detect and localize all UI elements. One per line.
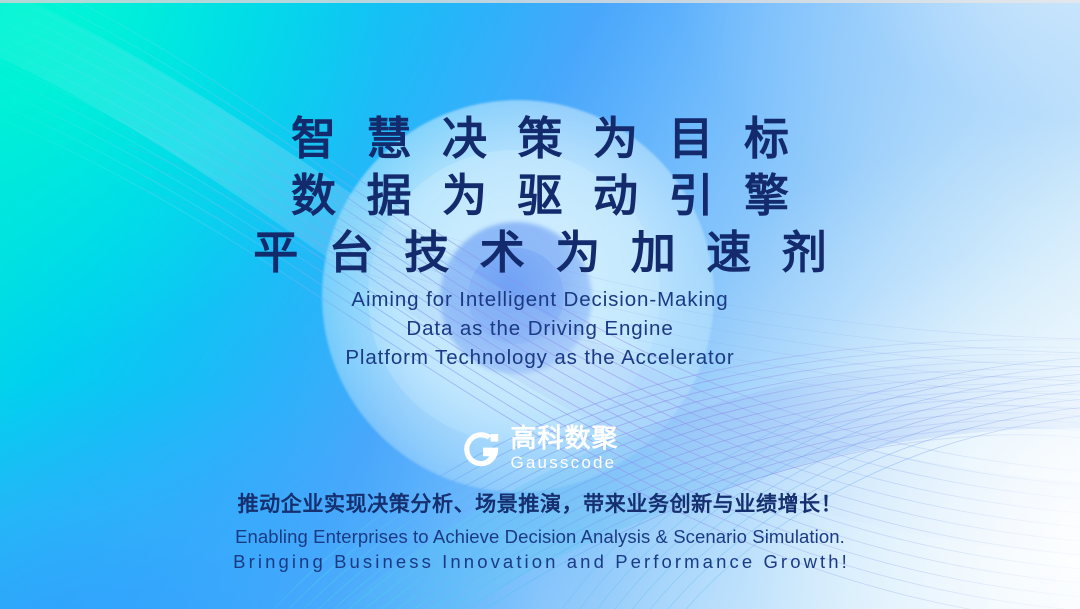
subheadline-line-2: Data as the Driving Engine	[345, 314, 734, 343]
poster-content: 智 慧 决 策 为 目 标 数 据 为 驱 动 引 擎 平 台 技 术 为 加 …	[0, 0, 1080, 609]
brand-name-en: Gausscode	[510, 453, 618, 473]
headline-line-1: 智 慧 决 策 为 目 标	[244, 110, 836, 167]
tagline-en-line-1: Enabling Enterprises to Achieve Decision…	[230, 525, 850, 549]
headline-line-2: 数 据 为 驱 动 引 擎	[244, 167, 836, 224]
headline: 智 慧 决 策 为 目 标 数 据 为 驱 动 引 擎 平 台 技 术 为 加 …	[244, 110, 836, 281]
poster-canvas: 智 慧 决 策 为 目 标 数 据 为 驱 动 引 擎 平 台 技 术 为 加 …	[0, 0, 1080, 609]
subheadline: Aiming for Intelligent Decision-Making D…	[345, 285, 734, 372]
tagline: 推动企业实现决策分析、场景推演，带来业务创新与业绩增长！ Enabling En…	[230, 490, 850, 574]
gausscode-g-mark-icon	[461, 429, 501, 469]
subheadline-line-1: Aiming for Intelligent Decision-Making	[345, 285, 734, 314]
brand-logo-text: 高科数聚 Gausscode	[510, 424, 618, 473]
tagline-en-line-2: Bringing Business Innovation and Perform…	[230, 549, 850, 574]
tagline-cn: 推动企业实现决策分析、场景推演，带来业务创新与业绩增长！	[230, 490, 850, 520]
brand-name-cn: 高科数聚	[510, 424, 618, 452]
brand-logo: 高科数聚 Gausscode	[461, 424, 618, 473]
headline-line-3: 平 台 技 术 为 加 速 剂	[244, 224, 836, 281]
subheadline-line-3: Platform Technology as the Accelerator	[345, 343, 734, 372]
